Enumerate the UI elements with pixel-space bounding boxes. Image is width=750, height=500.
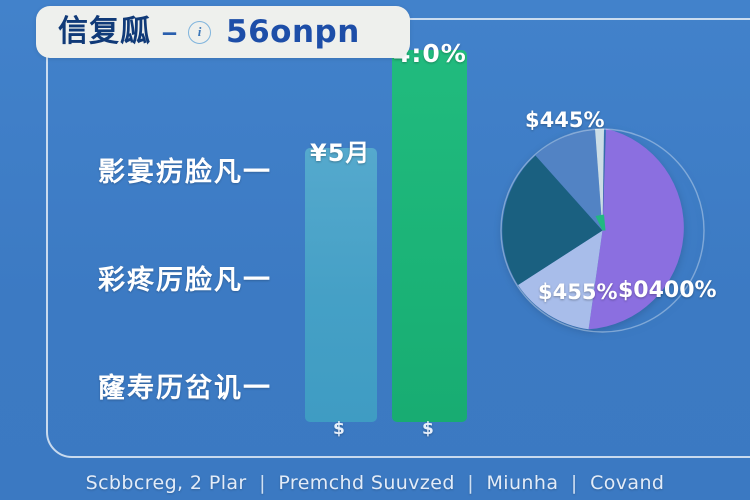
- header-title-pill[interactable]: 信复㼌 – i 56onpn: [36, 6, 410, 58]
- infographic-canvas: 信复㼌 – i 56onpn 影宴疠脸凡一 彩疼厉脸凡一 窿寿历岔讥一 ¥5月 …: [0, 0, 750, 500]
- pie-label-top: $445%: [525, 108, 605, 132]
- left-text-line-2: 彩疼厉脸凡一: [70, 258, 300, 297]
- pie-label-main: $0400%: [618, 278, 717, 303]
- footer-item-4[interactable]: Covand: [587, 472, 667, 494]
- bar-series-1[interactable]: [305, 148, 377, 422]
- header-dash: –: [162, 19, 177, 46]
- footer-item-3[interactable]: Miunha: [484, 472, 562, 494]
- header-title-cn: 信复㼌: [58, 17, 151, 47]
- footer-item-2[interactable]: Premchd Suuvzed: [275, 472, 457, 494]
- bar-series-2[interactable]: [392, 50, 467, 422]
- bar-axis-glyph-2: $: [422, 419, 434, 439]
- footer-separator-1: |: [256, 472, 269, 494]
- left-text-line-1: 影宴疠脸凡一: [70, 150, 300, 189]
- left-text-block: 影宴疠脸凡一 彩疼厉脸凡一 窿寿历岔讥一: [70, 150, 300, 474]
- header-code: 56onpn: [226, 17, 360, 48]
- footer-separator-2: |: [464, 472, 477, 494]
- info-circle-icon[interactable]: i: [188, 21, 211, 44]
- footer-bar: Scbbcreg, 2 Plar | Premchd Suuvzed | Miu…: [0, 472, 750, 494]
- bar-label-1: ¥5月: [310, 133, 370, 168]
- footer-separator-3: |: [568, 472, 581, 494]
- bar-axis-glyph-1: $: [333, 419, 345, 439]
- footer-item-1[interactable]: Scbbcreg, 2 Plar: [83, 472, 250, 494]
- pie-label-left: $455%: [538, 280, 618, 304]
- left-text-line-3: 窿寿历岔讥一: [70, 366, 300, 405]
